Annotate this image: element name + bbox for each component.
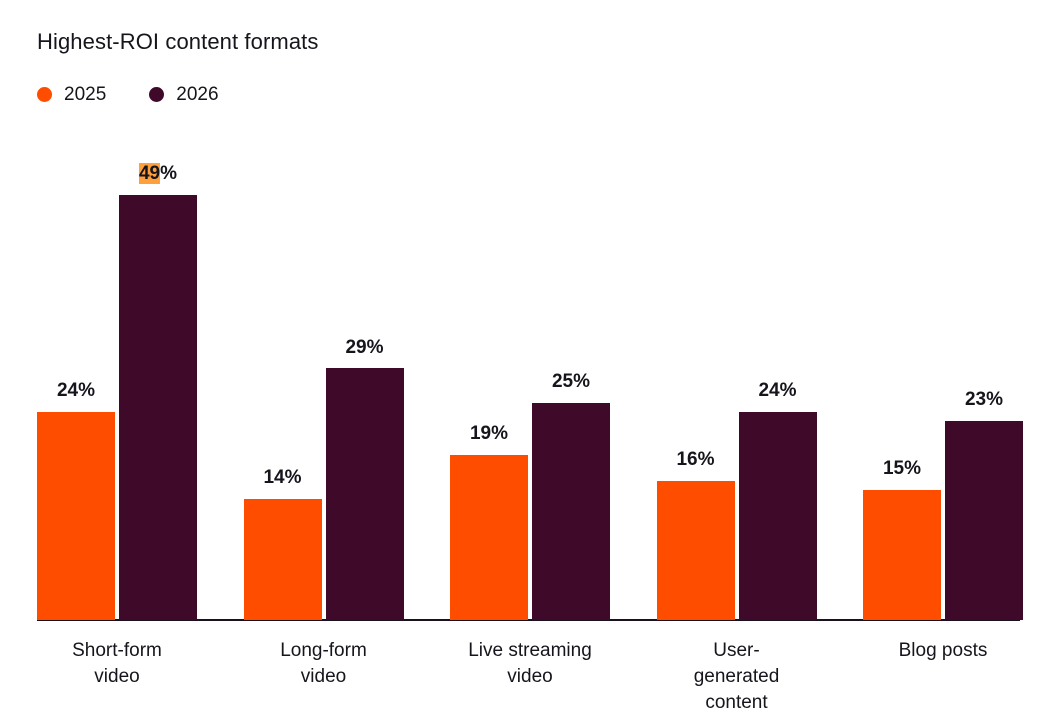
bar-value-label: 19% bbox=[470, 424, 508, 445]
bar-value-label: 24% bbox=[758, 381, 796, 402]
bar-2025-2[interactable]: 19% bbox=[450, 455, 528, 620]
bar-value-label: 23% bbox=[965, 390, 1003, 411]
bar-value-label: 16% bbox=[676, 450, 714, 471]
plot-area: 24%49%Short-form video14%29%Long-form vi… bbox=[0, 0, 1042, 721]
category-label-1: Long-form video bbox=[226, 638, 422, 690]
category-label-0: Short-form video bbox=[19, 638, 215, 690]
bar-rect bbox=[739, 412, 817, 620]
bar-2026-0[interactable]: 49% bbox=[119, 195, 197, 620]
bar-rect bbox=[326, 368, 404, 620]
bar-rect bbox=[657, 481, 735, 620]
bar-2025-0[interactable]: 24% bbox=[37, 412, 115, 620]
bar-value-label: 49% bbox=[139, 164, 177, 185]
bar-2025-4[interactable]: 15% bbox=[863, 490, 941, 620]
bar-value-label: 25% bbox=[552, 372, 590, 393]
bar-2025-3[interactable]: 16% bbox=[657, 481, 735, 620]
bar-value-label: 14% bbox=[263, 468, 301, 489]
category-label-4: Blog posts bbox=[845, 638, 1041, 664]
bar-value-label: 29% bbox=[345, 338, 383, 359]
bar-value-label: 15% bbox=[883, 459, 921, 480]
category-label-3: User- generated content bbox=[639, 638, 835, 716]
bar-rect bbox=[863, 490, 941, 620]
bar-rect bbox=[119, 195, 197, 620]
bar-rect bbox=[450, 455, 528, 620]
bar-2026-4[interactable]: 23% bbox=[945, 421, 1023, 620]
bar-2026-2[interactable]: 25% bbox=[532, 403, 610, 620]
value-highlight: 49 bbox=[139, 163, 160, 184]
bar-rect bbox=[244, 499, 322, 620]
bar-value-label: 24% bbox=[57, 381, 95, 402]
bar-rect bbox=[532, 403, 610, 620]
bar-rect bbox=[37, 412, 115, 620]
bar-chart: Highest-ROI content formats 2025 2026 24… bbox=[0, 0, 1042, 721]
bar-2026-3[interactable]: 24% bbox=[739, 412, 817, 620]
bar-2026-1[interactable]: 29% bbox=[326, 368, 404, 620]
category-label-2: Live streaming video bbox=[432, 638, 628, 690]
value-suffix: % bbox=[160, 163, 177, 184]
bar-2025-1[interactable]: 14% bbox=[244, 499, 322, 620]
bar-rect bbox=[945, 421, 1023, 620]
